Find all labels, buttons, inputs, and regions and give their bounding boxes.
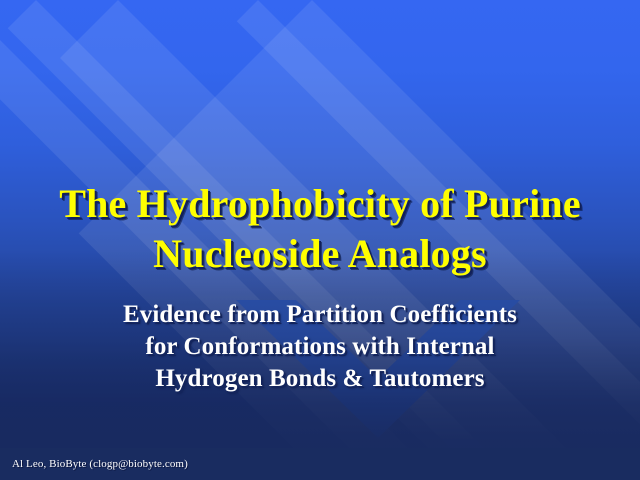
footer-attribution: Al Leo, BioByte (clogp@biobyte.com) [12, 457, 188, 471]
slide-title: The Hydrophobicity of Purine Nucleoside … [0, 179, 640, 279]
slide-subtitle: Evidence from Partition Coefficients for… [0, 299, 640, 395]
title-slide: The Hydrophobicity of Purine Nucleoside … [0, 0, 640, 480]
slide-content: The Hydrophobicity of Purine Nucleoside … [0, 0, 640, 480]
